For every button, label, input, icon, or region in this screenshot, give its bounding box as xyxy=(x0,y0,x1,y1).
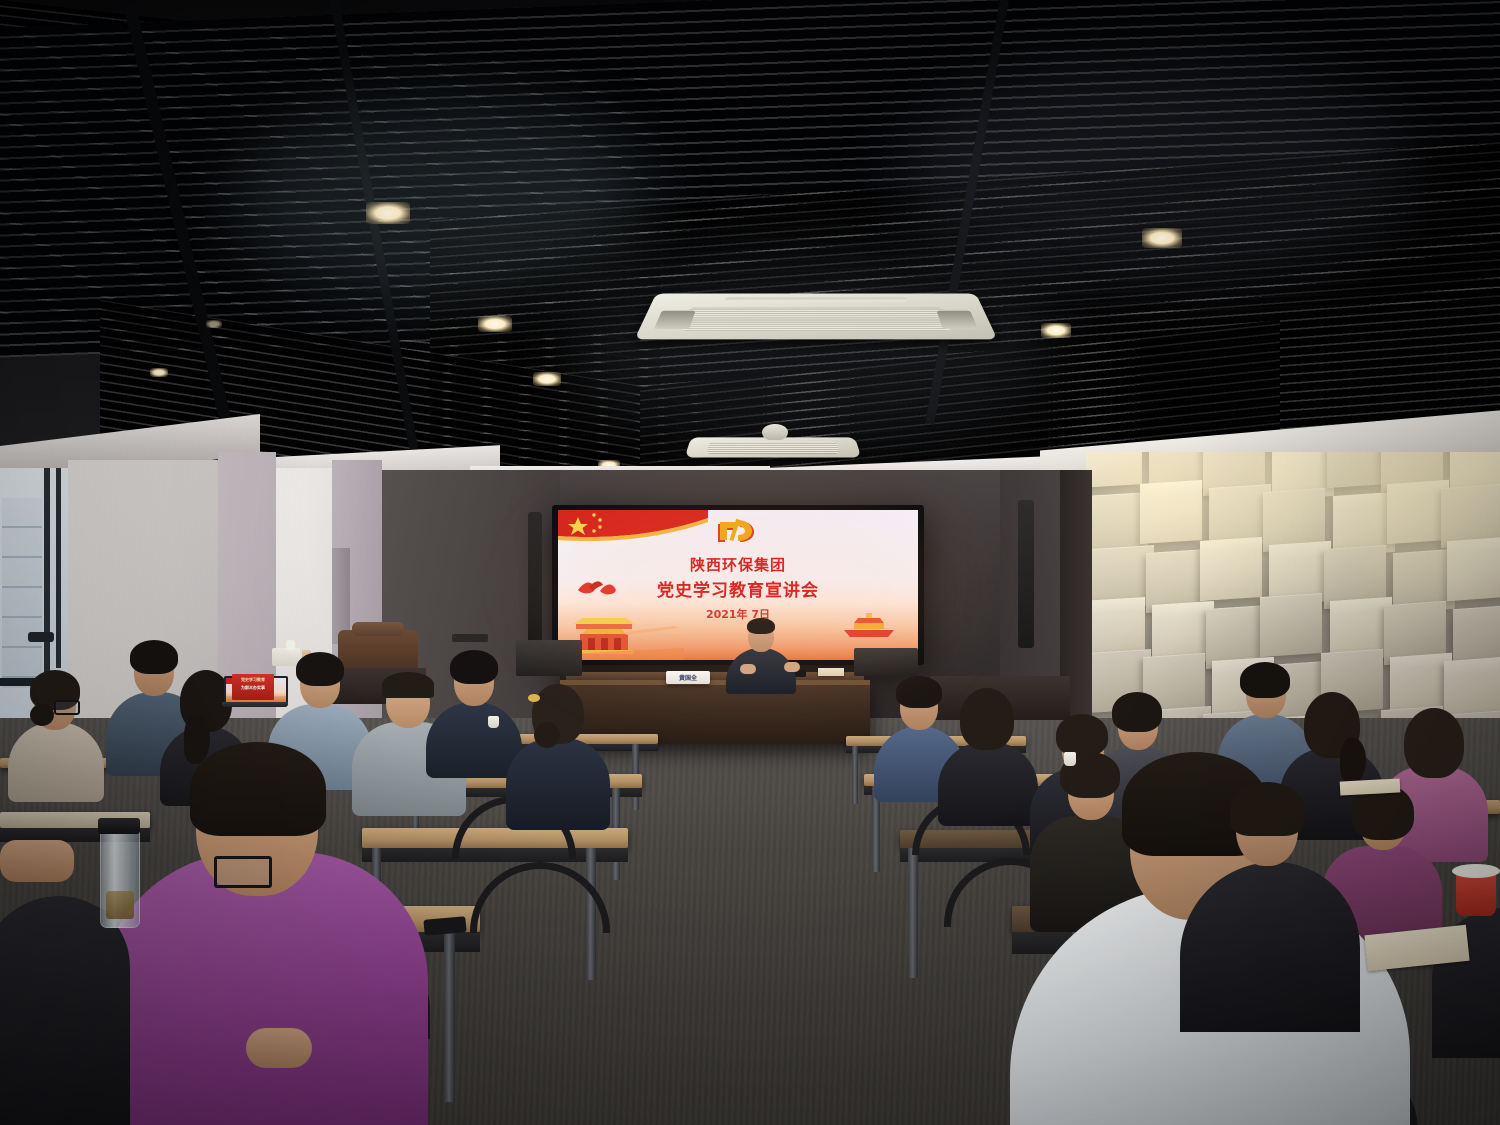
ceiling-cassette-ac-small xyxy=(685,437,862,457)
paper-cup-2[interactable] xyxy=(488,716,499,728)
acoustic-cube-highlight xyxy=(1140,480,1202,497)
paper-cup-1[interactable] xyxy=(1064,752,1076,766)
acoustic-cube xyxy=(1327,452,1389,488)
acoustic-cube-highlight xyxy=(1330,597,1392,615)
mug-rim xyxy=(1452,864,1500,878)
ceiling-downlight-5 xyxy=(1041,323,1071,338)
side-monitor xyxy=(516,640,582,676)
attendee-left-1 xyxy=(8,660,104,790)
podium-papers xyxy=(818,668,844,676)
desk-leg-11 xyxy=(908,848,918,978)
podium-nameplate: 黄国全 xyxy=(666,671,710,684)
ceiling-downlight-9 xyxy=(150,368,168,377)
acoustic-cube-highlight xyxy=(1152,601,1214,618)
side-equipment xyxy=(452,634,488,642)
acoustic-cube xyxy=(1200,537,1262,601)
nameplate-text: 黄国全 xyxy=(679,673,697,682)
presenter-hand-right xyxy=(784,662,800,672)
ceiling-downlight-2 xyxy=(478,316,512,332)
acoustic-cube-highlight xyxy=(1272,452,1334,453)
desk-leg-7 xyxy=(444,932,455,1102)
tumbler-lid xyxy=(98,818,140,834)
hair-clip xyxy=(528,694,540,702)
ceiling-downlight-4 xyxy=(1142,228,1182,248)
attendee-front-purple-arm xyxy=(246,1028,312,1068)
acoustic-cube xyxy=(1140,480,1202,544)
slide-title-line2: 党史学习教育宣讲会 xyxy=(558,576,918,601)
presenter-hand-left xyxy=(740,664,756,674)
desk-banner-line1: 党史学习教育 xyxy=(232,677,274,683)
red-mug[interactable] xyxy=(1456,872,1496,916)
attendee-front-purple xyxy=(98,756,428,1125)
acoustic-cube-highlight xyxy=(1444,657,1500,675)
screen-side-speaker-right xyxy=(1018,500,1034,648)
cpc-emblem xyxy=(702,516,774,550)
eyeglasses-1 xyxy=(54,700,80,715)
slide-title-line1: 陕西环保集团 xyxy=(558,554,918,575)
ceiling-downlight-10 xyxy=(206,320,222,328)
acoustic-cube xyxy=(1260,593,1322,657)
acoustic-cube xyxy=(1387,480,1449,545)
acoustic-cube-highlight xyxy=(1390,653,1452,671)
acoustic-cube-highlight xyxy=(1387,480,1449,498)
desk-leg-8 xyxy=(852,746,858,804)
ceiling-downlight-3 xyxy=(533,372,561,386)
acoustic-cube-highlight xyxy=(1333,492,1395,510)
window-handle xyxy=(28,632,54,642)
ceiling-downlight-1 xyxy=(366,202,410,224)
glass-tea-tumbler[interactable] xyxy=(100,826,140,928)
desk-banner-line2: 为群众办实事 xyxy=(232,685,274,691)
attendee-left-7 xyxy=(506,676,610,816)
ceiling-speaker-pod xyxy=(762,424,788,440)
acoustic-cube xyxy=(1086,452,1142,488)
photo-scene: 陕西环保集团 党史学习教育宣讲会 2021年 7日 黄国全 xyxy=(0,0,1500,1125)
presenter xyxy=(726,616,796,686)
prc-flag-wave xyxy=(558,510,708,552)
acoustic-cube-highlight xyxy=(1086,597,1145,614)
tissue-sheet xyxy=(286,640,295,650)
wooden-chair-headrest xyxy=(352,622,404,636)
eyeglasses-2 xyxy=(214,856,272,888)
screen-side-speaker-left xyxy=(528,512,542,652)
acoustic-cube xyxy=(1447,536,1500,601)
ceiling-cassette-ac xyxy=(634,294,997,340)
desk-party-banner: 党史学习教育 为群众办实事 xyxy=(232,674,274,700)
attendee-right-10 xyxy=(1180,790,1360,1030)
hand-left-foreground xyxy=(0,840,74,882)
